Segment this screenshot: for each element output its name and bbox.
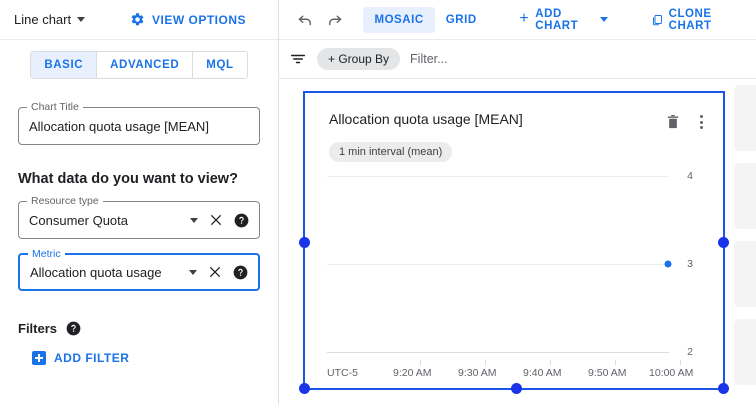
config-panel-header: Line chart VIEW OPTIONS [0,0,278,40]
grid-view-button[interactable]: GRID [435,7,488,33]
partial-chart-card[interactable] [734,241,756,307]
resize-handle-bottom[interactable] [511,383,522,394]
chart-title-label: Chart Title [27,101,83,113]
clear-resource-type-icon[interactable] [209,213,223,227]
add-chart-label: ADD CHART [535,8,594,32]
tab-basic[interactable]: BASIC [31,52,97,78]
partial-chart-card[interactable] [734,85,756,151]
view-options-button[interactable]: VIEW OPTIONS [130,12,264,27]
filters-help-icon[interactable] [66,321,81,336]
data-point[interactable] [665,261,672,268]
tab-basic-label: BASIC [44,59,83,71]
help-icon [234,213,249,228]
add-filter-label: ADD FILTER [54,351,129,365]
x-axis-line [327,352,669,353]
x-tick-mark [420,360,421,365]
metric-label: Metric [28,248,65,260]
clone-chart-button[interactable]: CLONE CHART [640,7,756,33]
close-icon [208,265,222,279]
metric-value: Allocation quota usage [30,265,183,280]
interval-chip[interactable]: 1 min interval (mean) [329,142,452,162]
help-icon [233,265,248,280]
dashboard-canvas: Allocation quota usage [MEAN] [279,79,756,404]
partial-chart-card[interactable] [734,319,756,385]
tab-advanced-label: ADVANCED [110,59,179,71]
chart-config-panel: Line chart VIEW OPTIONS BASIC ADVANCED M [0,0,279,404]
copy-icon [651,13,663,27]
dashboard-area: MOSAIC GRID + ADD CHART CLONE CHART [279,0,756,404]
dashboard-toolbar: MOSAIC GRID + ADD CHART CLONE CHART [279,0,756,40]
chart-title-value: Allocation quota usage [MEAN] [29,119,249,134]
kebab-dot [700,115,703,118]
resource-type-help-icon[interactable] [234,213,249,228]
resource-type-value: Consumer Quota [29,213,184,228]
group-by-chip[interactable]: + Group By [317,48,400,70]
clear-metric-icon[interactable] [208,265,222,279]
x-tick-mark [550,360,551,365]
edge-card-column [734,79,756,404]
x-axis-labels: UTC-5 9:20 AM 9:30 AM 9:40 AM 9:50 AM 10… [327,365,669,381]
resize-handle-bottom-left[interactable] [299,383,310,394]
data-section-heading: What data do you want to view? [18,171,260,187]
clone-chart-label: CLONE CHART [669,8,745,32]
filter-lines-icon[interactable] [289,52,307,66]
resource-type-label: Resource type [27,195,103,207]
chart-plot-area: 4 3 2 UTC-5 9:20 AM 9:30 AM [305,176,723,361]
config-tabs-row: BASIC ADVANCED MQL [0,40,278,79]
undo-icon [296,11,314,29]
timezone-label: UTC-5 [327,367,358,379]
chevron-down-icon [77,17,85,22]
grid-label: GRID [446,14,477,26]
chart-widget[interactable]: Allocation quota usage [MEAN] [303,91,725,390]
dashboard-editor: Line chart VIEW OPTIONS BASIC ADVANCED M [0,0,756,404]
chart-card-actions [666,111,707,131]
filter-input[interactable]: Filter... [410,52,448,66]
y-tick-label-2: 2 [687,346,693,358]
config-panel-body: Chart Title Allocation quota usage [MEAN… [0,79,278,365]
x-tick-mark [680,360,681,365]
resize-handle-bottom-right[interactable] [718,383,729,394]
interval-chip-label: 1 min interval (mean) [339,146,442,158]
redo-button[interactable] [323,6,347,34]
y-tick-label-3: 3 [687,258,693,270]
gridline-4 [327,176,669,177]
resize-handle-left[interactable] [299,237,310,248]
kebab-dot [700,121,703,124]
x-tick-label-2: 9:30 AM [458,367,497,379]
add-chart-button[interactable]: + ADD CHART [508,7,619,33]
resource-type-field[interactable]: Resource type Consumer Quota [18,201,260,239]
chevron-down-icon[interactable] [190,218,198,223]
filters-section-header: Filters [18,321,260,336]
chevron-down-icon[interactable] [189,270,197,275]
mosaic-view-button[interactable]: MOSAIC [363,7,434,33]
chart-card-title: Allocation quota usage [MEAN] [329,111,666,127]
chart-type-dropdown[interactable]: Line chart [14,12,85,27]
plus-icon [32,351,46,365]
help-icon [66,321,81,336]
plus-icon: + [519,11,529,27]
partial-chart-card[interactable] [734,163,756,229]
chevron-down-icon [600,17,608,22]
resize-handle-right[interactable] [718,237,729,248]
config-tabs: BASIC ADVANCED MQL [30,51,247,79]
trash-icon[interactable] [666,114,680,130]
metric-help-icon[interactable] [233,265,248,280]
chart-card-header: Allocation quota usage [MEAN] [305,93,723,131]
tab-mql[interactable]: MQL [193,52,246,78]
filters-label: Filters [18,321,57,336]
x-tick-mark [485,360,486,365]
resource-type-icons [190,213,249,228]
group-by-label: + Group By [328,52,389,66]
chart-type-label: Line chart [14,12,71,27]
tab-mql-label: MQL [206,59,233,71]
gridline-3 [327,264,669,265]
mosaic-label: MOSAIC [374,14,423,26]
filter-placeholder-text: Filter... [410,52,448,66]
gear-icon [130,12,145,27]
redo-icon [326,11,344,29]
metric-icons [189,265,248,280]
x-tick-mark [615,360,616,365]
filter-toolbar: + Group By Filter... [279,40,756,79]
tab-advanced[interactable]: ADVANCED [97,52,193,78]
undo-button[interactable] [293,6,317,34]
kebab-dot [700,126,703,129]
close-icon [209,213,223,227]
metric-field[interactable]: Metric Allocation quota usage [18,253,260,291]
y-tick-label-4: 4 [687,170,693,182]
add-filter-button[interactable]: ADD FILTER [32,351,260,365]
x-tick-label-4: 9:50 AM [588,367,627,379]
x-tick-label-5: 10:00 AM [649,367,693,379]
x-tick-label-1: 9:20 AM [393,367,432,379]
x-tick-label-3: 9:40 AM [523,367,562,379]
chart-title-field[interactable]: Chart Title Allocation quota usage [MEAN… [18,107,260,145]
chart-card-more-menu[interactable] [696,113,707,131]
view-options-label: VIEW OPTIONS [152,13,246,27]
